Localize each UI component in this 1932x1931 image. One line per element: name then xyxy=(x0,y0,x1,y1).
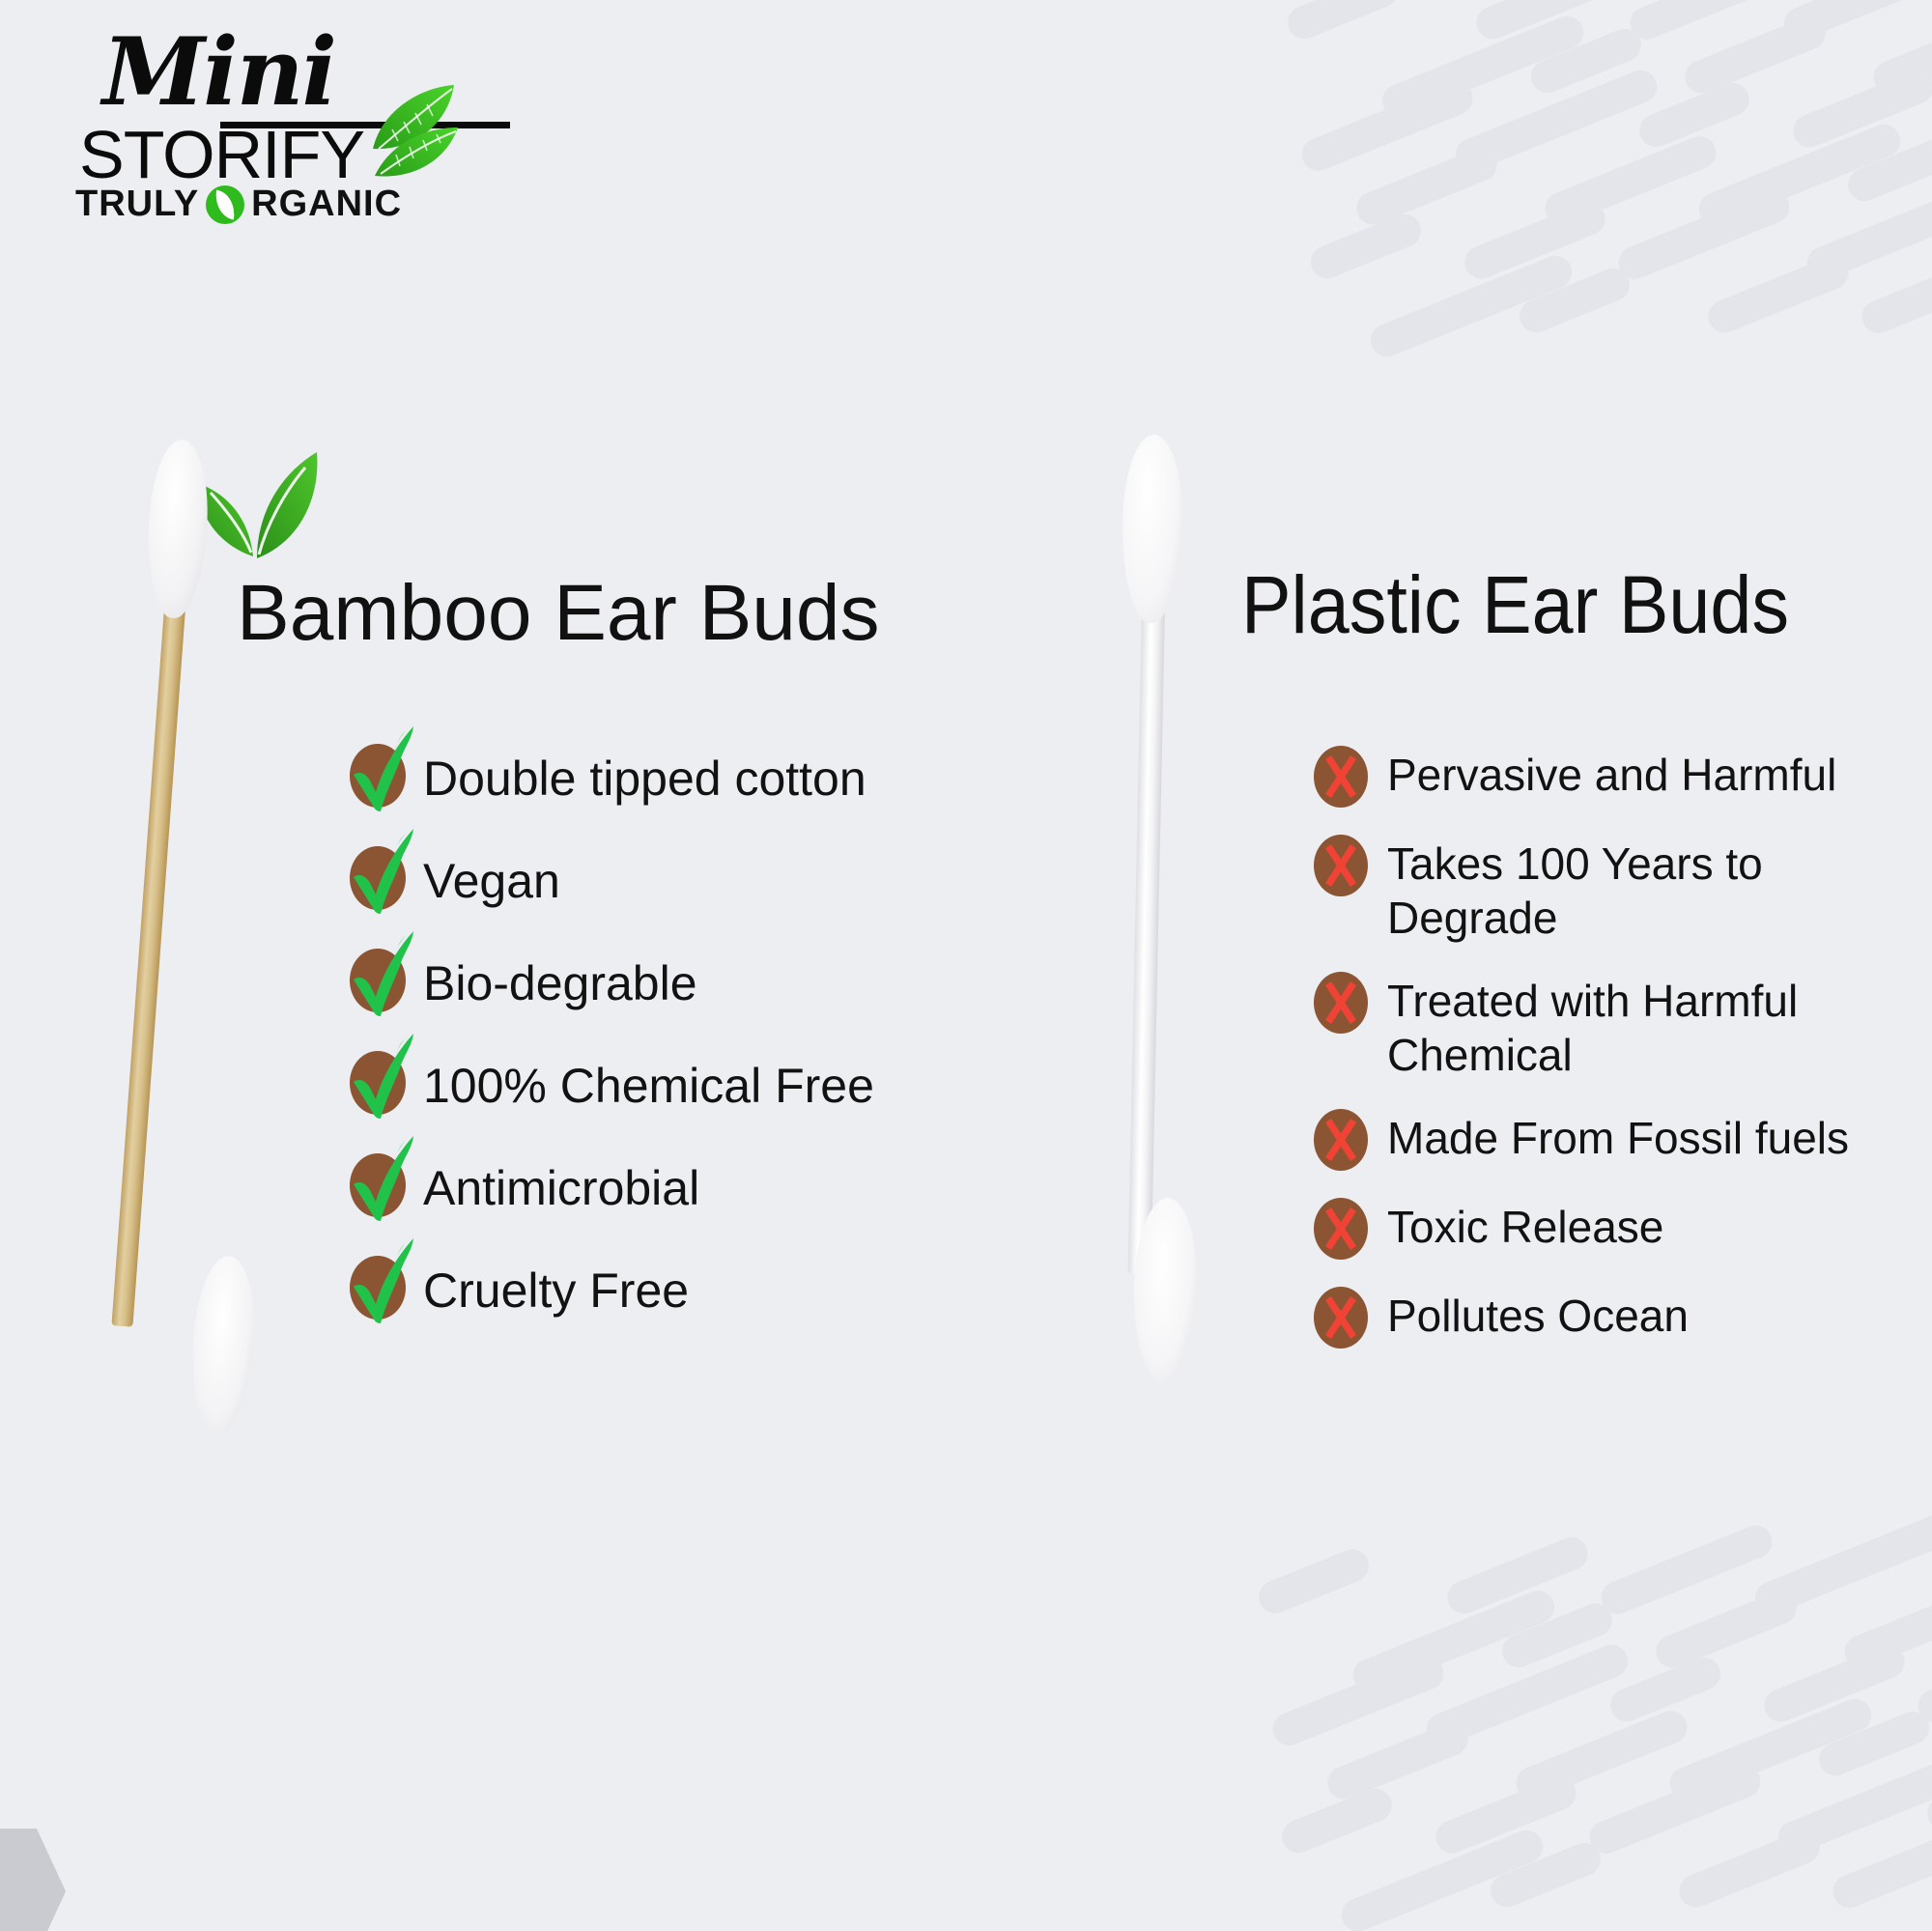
check-mark-icon xyxy=(344,923,419,1020)
decor-dash xyxy=(1750,1509,1932,1620)
decor-dash xyxy=(1306,210,1426,283)
decor-dash xyxy=(1759,1640,1910,1726)
decor-dash xyxy=(1922,1761,1932,1834)
plastic-stick xyxy=(1128,560,1166,1275)
hexagon-decor-3 xyxy=(0,1922,71,1931)
cross-mark-icon xyxy=(1314,835,1368,896)
decor-dash xyxy=(1779,0,1932,44)
check-mark-icon xyxy=(350,1256,406,1320)
hexagon-decor-2 xyxy=(0,1829,66,1931)
decor-dash xyxy=(1868,0,1932,99)
decor-dash xyxy=(1625,0,1805,44)
decor-dash xyxy=(1515,264,1634,337)
check-mark-icon xyxy=(344,1128,419,1225)
bamboo-tip-bottom xyxy=(187,1254,260,1436)
decor-dash xyxy=(1422,1640,1634,1751)
tagline-rganic: RGANIC xyxy=(251,184,402,225)
list-item[interactable]: 100% Chemical Free xyxy=(350,1051,968,1115)
list-item-label: Cruelty Free xyxy=(423,1256,689,1320)
decor-dash xyxy=(1674,1826,1825,1912)
leaf-o-inner xyxy=(213,189,238,219)
decor-dash xyxy=(1471,0,1622,44)
decor-dash xyxy=(1267,1652,1448,1750)
cross-mark-icon xyxy=(1314,1198,1368,1260)
bamboo-benefit-list: Double tipped cottonVeganBio-degrable100… xyxy=(350,744,968,1358)
brand-name-block: STORIFY xyxy=(79,116,364,193)
list-item[interactable]: Pervasive and Harmful xyxy=(1314,746,1913,808)
cross-mark-icon xyxy=(1314,972,1368,1034)
decor-dash xyxy=(1526,24,1646,98)
leaf-pair-icon xyxy=(365,79,491,185)
decor-dash xyxy=(1605,1653,1725,1726)
decor-dash xyxy=(1814,1707,1932,1780)
check-mark-icon xyxy=(350,1153,406,1217)
list-item-label: Antimicrobial xyxy=(423,1153,699,1217)
check-mark-icon xyxy=(344,1026,419,1122)
brand-tagline: TRULY RGANIC xyxy=(75,184,402,225)
cross-mark-icon xyxy=(1314,972,1368,1034)
cross-mark-icon xyxy=(1314,1198,1368,1260)
cross-mark-icon xyxy=(1314,1109,1368,1171)
bamboo-stick xyxy=(111,554,189,1326)
brand-logo: Mini STORIFY xyxy=(75,21,481,214)
list-item[interactable]: Bio-degrable xyxy=(350,949,968,1012)
list-item-label: Double tipped cotton xyxy=(423,744,867,808)
bamboo-tip-top xyxy=(144,439,212,620)
decor-dash xyxy=(1486,1838,1605,1912)
check-mark-icon xyxy=(344,719,419,815)
brand-name-script: Mini xyxy=(102,17,335,127)
leaf-o-icon xyxy=(206,185,244,224)
decor-dash xyxy=(1511,1706,1691,1804)
decor-dash xyxy=(1442,1532,1593,1618)
cross-mark-icon xyxy=(1314,1109,1368,1171)
list-item-label: Pervasive and Harmful xyxy=(1387,746,1836,802)
check-mark-icon xyxy=(344,1231,419,1327)
plastic-tip-top xyxy=(1121,434,1183,623)
list-item[interactable]: Toxic Release xyxy=(1314,1198,1913,1260)
decor-dash xyxy=(1596,1520,1776,1619)
page-title-bamboo: Bamboo Ear Buds xyxy=(237,568,880,659)
plastic-cotton-bud-image xyxy=(1101,435,1207,1362)
brand-name-block-text: STORIFY xyxy=(79,117,364,192)
cross-mark-icon xyxy=(1314,1287,1368,1349)
check-mark-icon xyxy=(350,744,406,808)
decor-dash xyxy=(1322,1718,1473,1803)
list-item-label: 100% Chemical Free xyxy=(423,1051,874,1115)
decor-dash xyxy=(1703,251,1854,337)
decor-dash xyxy=(1803,174,1932,285)
decor-dash xyxy=(1460,197,1610,283)
list-item-label: Pollutes Ocean xyxy=(1387,1287,1689,1343)
decor-dash xyxy=(1584,1760,1765,1859)
decor-dash xyxy=(1828,1814,1932,1913)
cross-mark-icon xyxy=(1314,746,1368,808)
decor-dash xyxy=(1283,0,1403,43)
list-item-label: Made From Fossil fuels xyxy=(1387,1109,1849,1165)
cross-mark-icon xyxy=(1314,746,1368,808)
list-item[interactable]: Pollutes Ocean xyxy=(1314,1287,1913,1349)
decor-dash xyxy=(1839,1575,1932,1673)
decor-dash xyxy=(1451,66,1662,177)
decor-dash xyxy=(1366,251,1577,362)
cross-mark-icon xyxy=(1314,1287,1368,1349)
decor-dash xyxy=(1613,185,1794,284)
decor-dash xyxy=(1694,120,1906,231)
list-item-label: Toxic Release xyxy=(1387,1198,1663,1254)
decor-dash xyxy=(1349,1586,1560,1697)
list-item[interactable]: Takes 100 Years to Degrade xyxy=(1314,835,1913,945)
decor-dash xyxy=(1857,240,1932,338)
list-item[interactable]: Treated with Harmful Chemical xyxy=(1314,972,1913,1082)
decor-dash xyxy=(1431,1772,1581,1858)
decor-dash xyxy=(1788,66,1932,152)
decor-dash xyxy=(1913,1629,1932,1727)
tagline-truly: TRULY xyxy=(75,184,199,225)
check-mark-icon xyxy=(350,846,406,910)
decor-dash xyxy=(1843,132,1932,206)
decor-dash xyxy=(1378,12,1589,123)
decor-dash xyxy=(1497,1599,1617,1672)
decor-dash xyxy=(1680,12,1831,98)
list-item-label: Vegan xyxy=(423,846,560,910)
decor-dash xyxy=(1337,1826,1548,1931)
list-item-label: Takes 100 Years to Degrade xyxy=(1387,835,1913,945)
list-item[interactable]: Made From Fossil fuels xyxy=(1314,1109,1913,1171)
bamboo-cotton-bud-image xyxy=(126,440,232,1415)
decor-dash xyxy=(1296,77,1477,176)
list-item[interactable]: Double tipped cotton xyxy=(350,744,968,808)
decor-dash xyxy=(1540,131,1720,230)
plastic-drawback-list: Pervasive and HarmfulTakes 100 Years to … xyxy=(1314,746,1913,1376)
decor-dash xyxy=(1651,1586,1802,1672)
check-mark-icon xyxy=(350,1051,406,1115)
decor-dash xyxy=(1254,1545,1374,1618)
decor-dash xyxy=(1665,1694,1877,1805)
page-title-plastic: Plastic Ear Buds xyxy=(1241,558,1789,652)
decor-dash xyxy=(1634,78,1754,152)
list-item[interactable]: Vegan xyxy=(350,846,968,910)
list-item-label: Treated with Harmful Chemical xyxy=(1387,972,1913,1082)
decor-dash xyxy=(1351,143,1502,229)
cross-mark-icon xyxy=(1314,835,1368,896)
infographic-canvas: Mini STORIFY xyxy=(0,0,1932,1931)
decor-dash xyxy=(1277,1784,1397,1858)
decor-dash xyxy=(1774,1748,1932,1860)
check-mark-icon xyxy=(350,949,406,1012)
check-mark-icon xyxy=(344,821,419,918)
list-item[interactable]: Antimicrobial xyxy=(350,1153,968,1217)
list-item-label: Bio-degrable xyxy=(423,949,697,1012)
list-item[interactable]: Cruelty Free xyxy=(350,1256,968,1320)
